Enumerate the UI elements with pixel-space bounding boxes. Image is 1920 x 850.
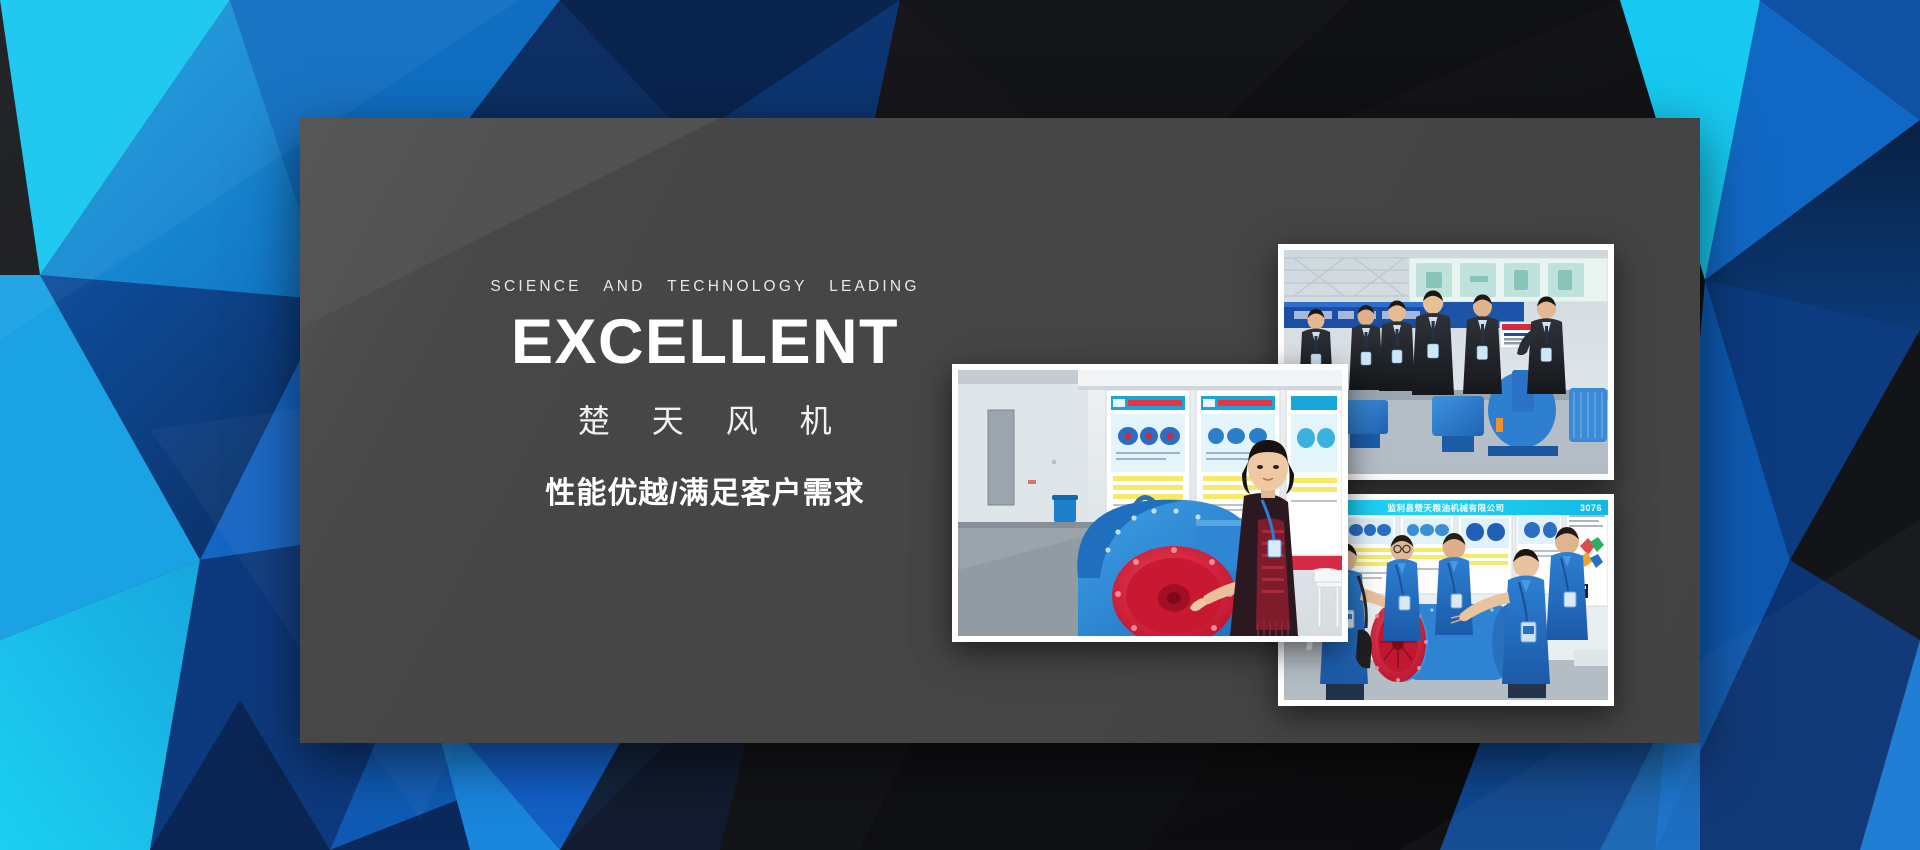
tagline-text: 性能优越/满足客户需求 — [360, 468, 1050, 512]
brand-name-chinese: 楚 天 风 机 — [360, 396, 1050, 442]
eyebrow-word-1: AND — [603, 278, 645, 295]
eyebrow-word-2: TECHNOLOGY — [667, 278, 808, 295]
page-title: EXCELLENT — [360, 310, 1050, 374]
photo-product-presenter-image — [958, 370, 1342, 636]
booth-number: 3076 — [1580, 503, 1602, 513]
brand-char-3: 机 — [800, 403, 833, 439]
eyebrow-text: SCIENCE AND TECHNOLOGY LEADING — [360, 278, 1050, 296]
brand-char-0: 楚 — [578, 403, 611, 439]
eyebrow-word-3: LEADING — [829, 278, 919, 295]
headline-text-block: SCIENCE AND TECHNOLOGY LEADING EXCELLENT… — [360, 278, 1050, 512]
brand-char-2: 风 — [726, 403, 759, 439]
photo-product-presenter[interactable] — [952, 364, 1348, 642]
eyebrow-word-0: SCIENCE — [490, 278, 581, 295]
content-panel: SCIENCE AND TECHNOLOGY LEADING EXCELLENT… — [300, 118, 1700, 743]
hero-banner: SCIENCE AND TECHNOLOGY LEADING EXCELLENT… — [0, 0, 1920, 850]
brand-char-1: 天 — [652, 403, 685, 439]
expo-banner-text: 监利县楚天粮油机械有限公司 — [1387, 502, 1504, 514]
